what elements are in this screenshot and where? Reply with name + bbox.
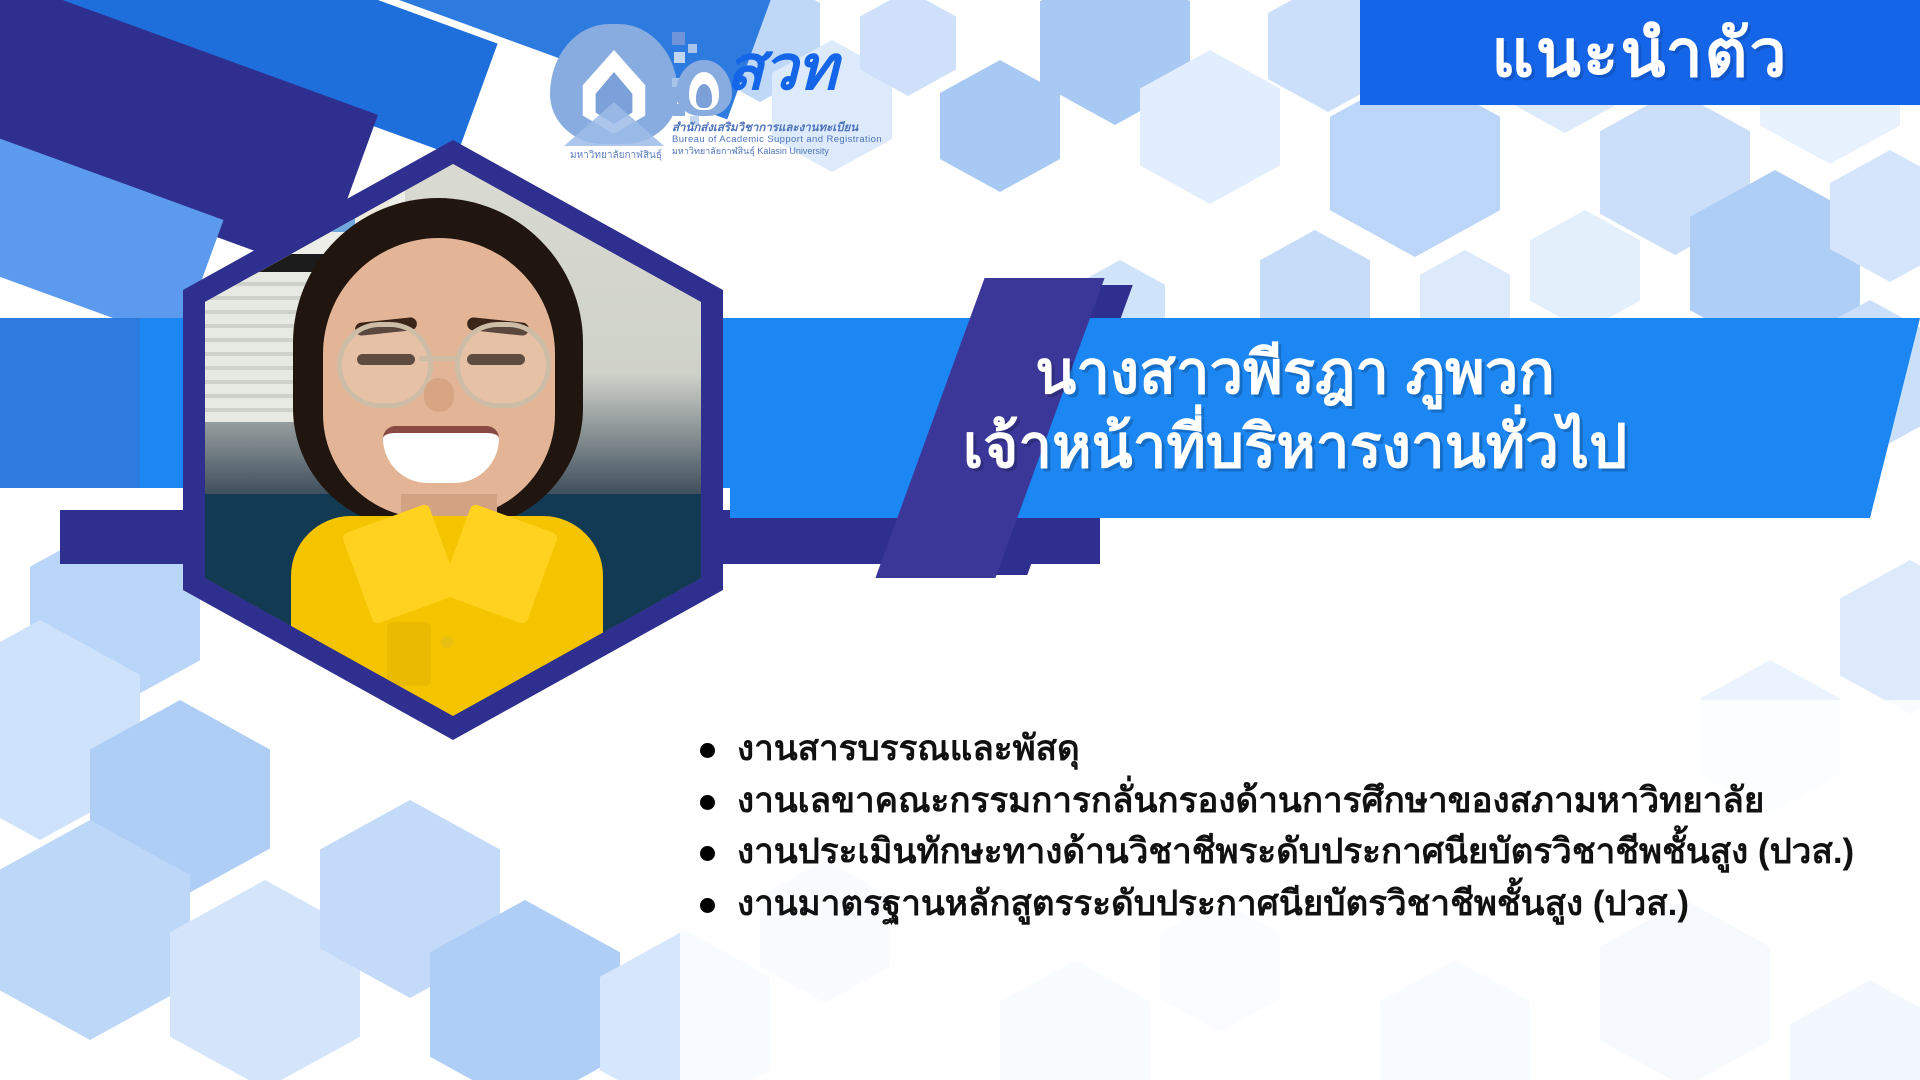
kalasin-university-emblem — [550, 24, 678, 154]
hex-shape — [1830, 150, 1920, 282]
name-plate: นางสาวพีรฎา ภูพวก เจ้าหน้าที่บริหารงานทั… — [730, 318, 1920, 518]
hex-shape — [1140, 50, 1280, 204]
hex-shape — [1530, 210, 1640, 331]
list-item: งานมาตรฐานหลักสูตรระดับประกาศนียบัตรวิชา… — [700, 881, 1890, 927]
hex-shape — [0, 820, 190, 1040]
person-name: นางสาวพีรฎา ภูพวก — [730, 336, 1860, 409]
logo-wordmark: สวท — [726, 38, 837, 100]
title-banner: แนะนำตัว — [1360, 0, 1920, 105]
hex-shape — [1840, 560, 1920, 714]
list-item: งานเลขาคณะกรรมการกลั่นกรองด้านการศึกษาขอ… — [700, 778, 1890, 824]
bullet-icon — [700, 795, 715, 810]
title-banner-text: แนะนำตัว — [1491, 20, 1788, 86]
portrait-hexagon — [183, 140, 723, 740]
logo-line-thai: สำนักส่งเสริมวิชาการและงานทะเบียน — [672, 122, 934, 135]
bullet-icon — [700, 898, 715, 913]
hex-shape — [430, 900, 620, 1080]
duties-list: งานสารบรรณและพัสดุ งานเลขาคณะกรรมการกลั่… — [700, 726, 1890, 932]
logo-line-english: Bureau of Academic Support and Registrat… — [672, 135, 934, 146]
duty-text: งานประเมินทักษะทางด้านวิชาชีพระดับประกาศ… — [737, 829, 1854, 875]
list-item: งานประเมินทักษะทางด้านวิชาชีพระดับประกาศ… — [700, 829, 1890, 875]
slide-canvas: มหาวิทยาลัยกาฬสินธุ์ สวท สำนักส่งเสริมวิ… — [0, 0, 1920, 1080]
university-logo: มหาวิทยาลัยกาฬสินธุ์ สวท สำนักส่งเสริมวิ… — [520, 8, 940, 168]
duty-text: งานสารบรรณและพัสดุ — [737, 726, 1080, 772]
logo-line-footer: มหาวิทยาลัยกาฬสินธุ์ Kalasin University — [672, 146, 934, 156]
duty-text: งานมาตรฐานหลักสูตรระดับประกาศนียบัตรวิชา… — [737, 881, 1689, 927]
duty-text: งานเลขาคณะกรรมการกลั่นกรองด้านการศึกษาขอ… — [737, 778, 1764, 824]
bureau-logo: สวท สำนักส่งเสริมวิชาการและงานทะเบียน Bu… — [670, 30, 935, 160]
bullet-icon — [700, 743, 715, 758]
bullet-icon — [700, 846, 715, 861]
photo-polo-shirt — [291, 516, 603, 716]
person-role: เจ้าหน้าที่บริหารงานทั่วไป — [730, 410, 1860, 483]
ribbon-blue-left-accent — [0, 318, 140, 488]
list-item: งานสารบรรณและพัสดุ — [700, 726, 1890, 772]
